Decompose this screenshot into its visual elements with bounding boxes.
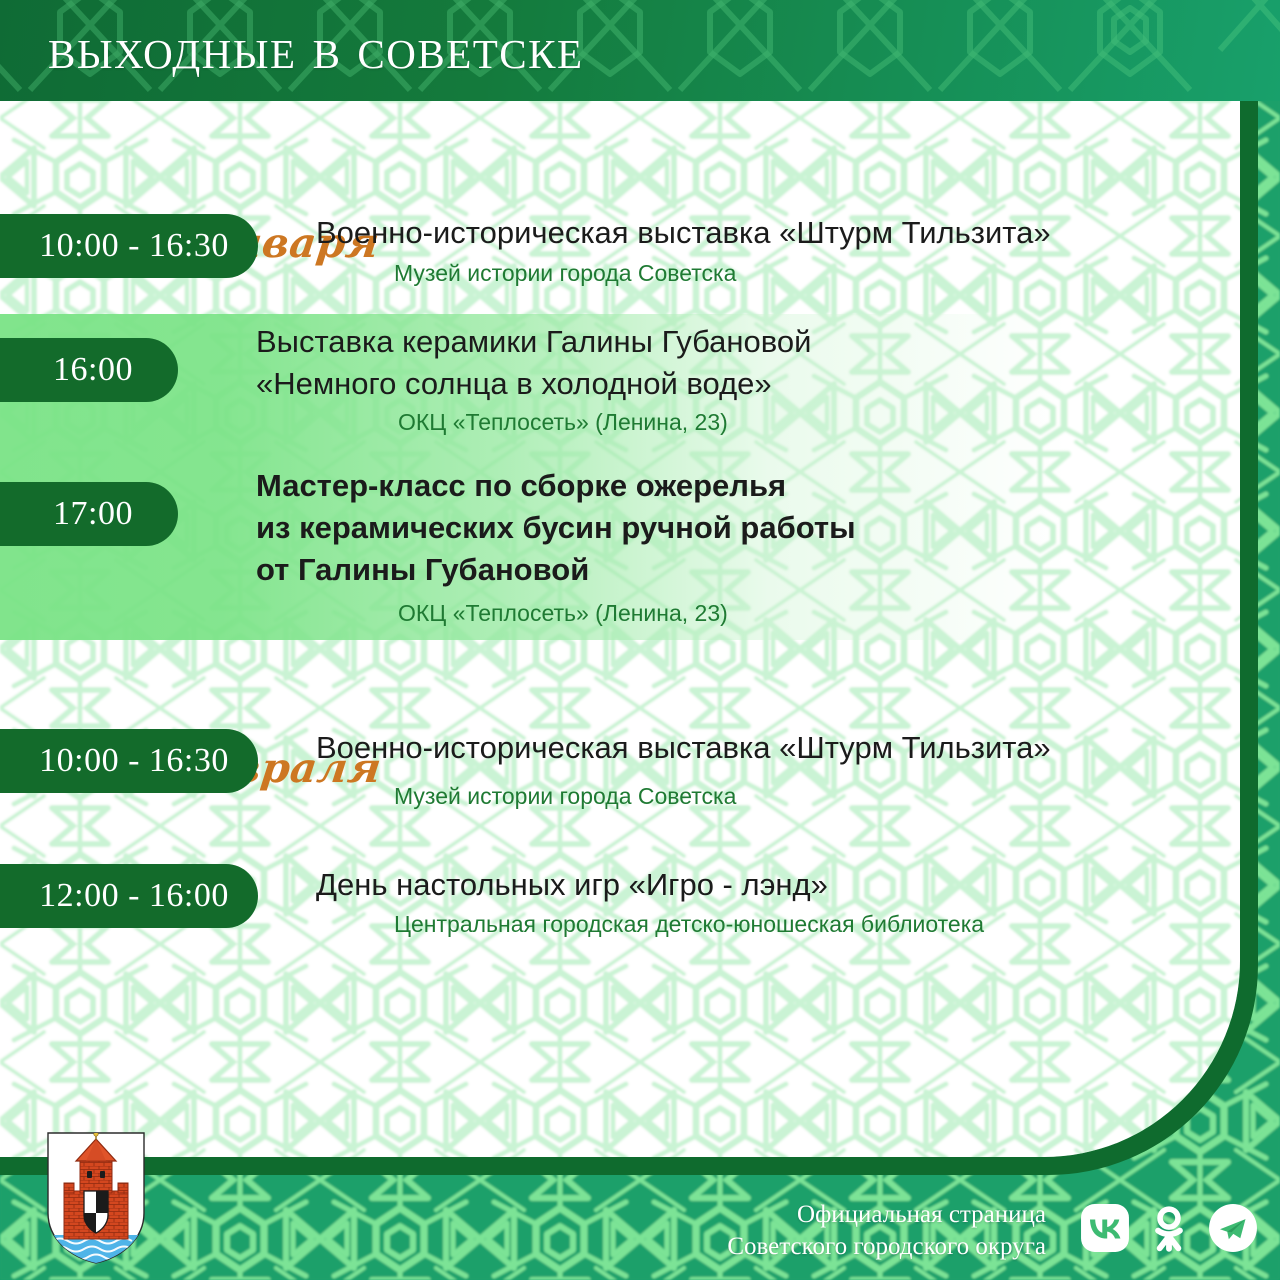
event-title-line: Выставка керамики Галины Губановой	[256, 321, 811, 363]
event-venue: Центральная городская детско-юношеская б…	[394, 909, 984, 939]
event-time-badge: 10:00 - 16:30	[0, 729, 258, 793]
page-title: Выходные в Советске	[48, 13, 584, 85]
event-title-line: «Немного солнца в холодной воде»	[256, 363, 772, 405]
ok-icon[interactable]	[1144, 1203, 1194, 1253]
event-title-line: из керамических бусин ручной работы	[256, 507, 856, 549]
header-band: Выходные в Советске	[0, 0, 1280, 101]
event-venue: ОКЦ «Теплосеть» (Ленина, 23)	[398, 407, 728, 437]
event-title-line: от Галины Губановой	[256, 549, 589, 591]
event-title: Военно-историческая выставка «Штурм Тиль…	[316, 727, 1051, 769]
footer-line-2: Советского городского округа	[727, 1231, 1046, 1263]
event-time-badge: 12:00 - 16:00	[0, 864, 258, 928]
event-title: Военно-историческая выставка «Штурм Тиль…	[316, 212, 1051, 254]
event-time-badge: 10:00 - 16:30	[0, 214, 258, 278]
social-links	[1080, 1203, 1258, 1253]
event-venue: Музей истории города Советска	[394, 781, 736, 811]
footer-line-1: Официальная страница	[727, 1199, 1046, 1231]
event-title: День настольных игр «Игро - лэнд»	[316, 864, 828, 906]
event-time-badge: 17:00	[0, 482, 178, 546]
sovetsk-coat-of-arms	[44, 1131, 148, 1265]
poster-root: Выходные в Советске 31 января 10:00 - 16…	[0, 0, 1280, 1280]
event-time-badge: 16:00	[0, 338, 178, 402]
telegram-icon[interactable]	[1208, 1203, 1258, 1253]
event-venue: Музей истории города Советска	[394, 258, 736, 288]
footer-text: Официальная страница Советского городско…	[727, 1199, 1046, 1263]
vk-icon[interactable]	[1080, 1203, 1130, 1253]
event-title-line: Мастер-класс по сборке ожерелья	[256, 465, 786, 507]
content-sheet: 31 января 10:00 - 16:30 Военно-историчес…	[0, 101, 1240, 1157]
event-venue: ОКЦ «Теплосеть» (Ленина, 23)	[398, 598, 728, 628]
